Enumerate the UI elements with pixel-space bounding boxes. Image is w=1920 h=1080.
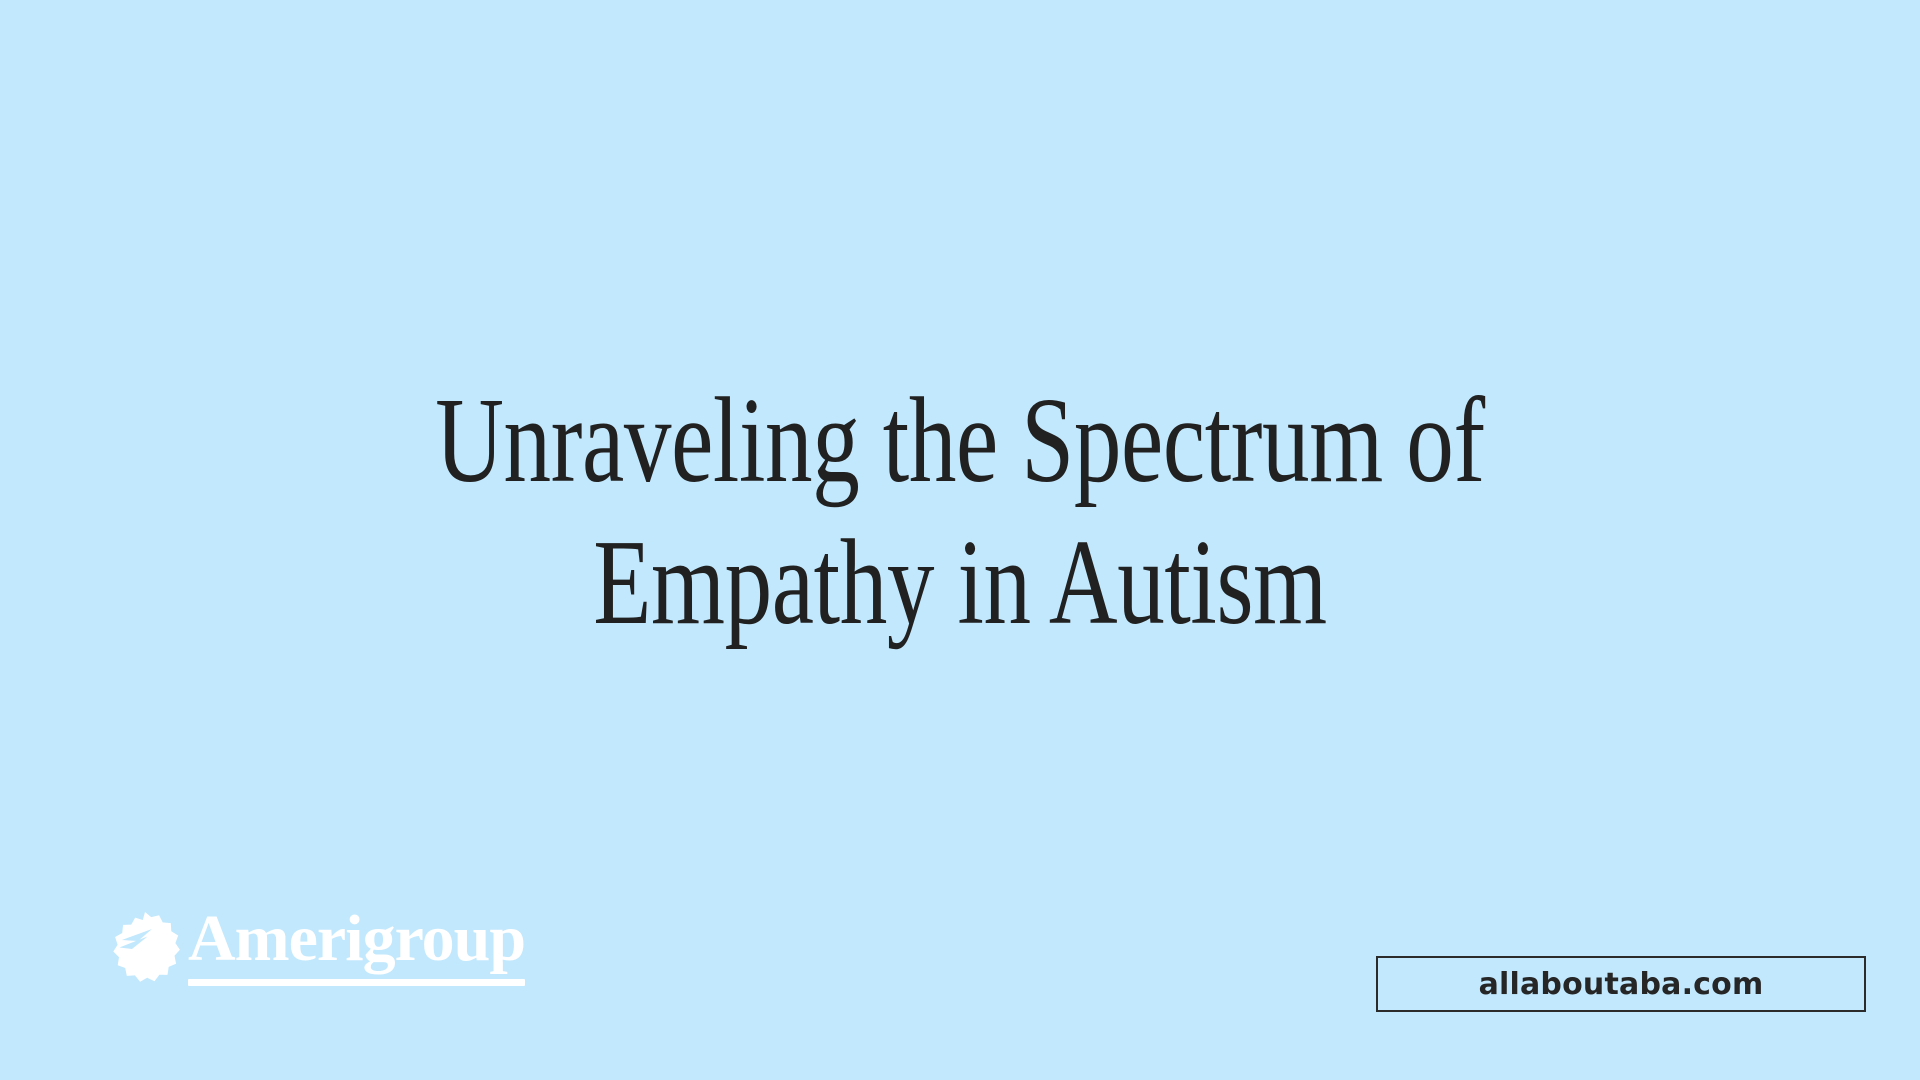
title-line-2: Empathy in Autism — [211, 512, 1709, 654]
website-url-badge[interactable]: allaboutaba.com — [1376, 956, 1866, 1012]
slide-canvas: Unraveling the Spectrum of Empathy in Au… — [0, 0, 1920, 1080]
starburst-slash-icon — [108, 910, 182, 984]
page-title: Unraveling the Spectrum of Empathy in Au… — [0, 370, 1920, 654]
logo-brand-name: Amerigroup — [188, 906, 525, 972]
logo-underline-rule — [188, 979, 525, 986]
amerigroup-logo: Amerigroup — [108, 906, 525, 992]
website-url-text: allaboutaba.com — [1479, 967, 1764, 1002]
logo-wordmark-group: Amerigroup — [188, 906, 525, 986]
title-line-1: Unraveling the Spectrum of — [211, 370, 1709, 512]
